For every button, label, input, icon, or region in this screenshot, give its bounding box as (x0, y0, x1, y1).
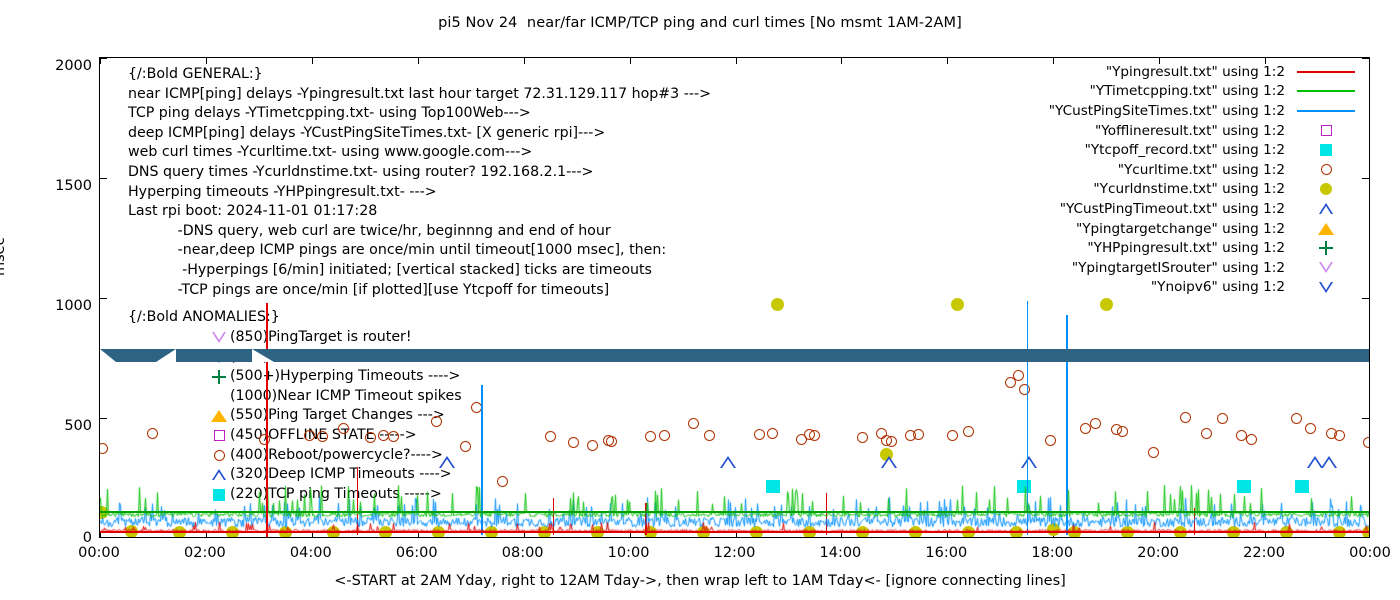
circle-open-brown-icon (214, 450, 225, 461)
legend-key (1293, 164, 1359, 175)
curl-time-point (1180, 412, 1191, 423)
x-tick-label: 18:00 (1007, 545, 1097, 561)
anomaly-marker (208, 469, 230, 480)
legend-key (1293, 183, 1359, 195)
x-tick-label: 20:00 (1113, 545, 1203, 561)
x-tick-label: 22:00 (1219, 545, 1309, 561)
curl-time-point (259, 434, 270, 445)
dns-time-point (951, 298, 964, 311)
curl-time-point (767, 428, 778, 439)
curl-time-point (1201, 428, 1212, 439)
square-open-magenta-icon (214, 430, 225, 441)
curl-time-point (545, 431, 556, 442)
banner-notch-right (252, 349, 274, 362)
legend-label: "YpingtargetISrouter" using 1:2 (1072, 260, 1285, 276)
x-tick-top (206, 58, 207, 64)
legend-row[interactable]: "Ytcpoff_record.txt" using 1:2 (1019, 140, 1359, 160)
curl-time-point (460, 441, 471, 452)
tcp-baseline-line (100, 511, 1370, 513)
y-tick-label-2000: 2000 (12, 58, 92, 74)
curl-time-point (1045, 435, 1056, 446)
x-tick-top (841, 58, 842, 64)
dns-time-point (1100, 298, 1113, 311)
curl-time-point (431, 416, 442, 427)
curl-time-point (1013, 370, 1024, 381)
line-key-icon (1297, 110, 1355, 112)
anomaly-item: (850)PingTarget is router! (208, 328, 412, 348)
anomaly-label: (1000)Near ICMP Timeout spikes (230, 387, 462, 407)
curl-time-point (1080, 423, 1091, 434)
plot-area[interactable]: {/:Bold GENERAL:} near ICMP[ping] delays… (99, 57, 1370, 538)
x-tick-label: 00:00 (1325, 545, 1400, 561)
curl-time-point (304, 430, 315, 441)
x-tick-top (630, 58, 631, 64)
legend-label: "Ycurltime.txt" using 1:2 (1118, 162, 1285, 178)
curl-time-point (1246, 434, 1257, 445)
x-tick-label: 08:00 (478, 545, 568, 561)
chart-root: pi5 Nov 24 near/far ICMP/TCP ping and cu… (0, 0, 1400, 600)
legend-row[interactable]: "Ynoipv6" using 1:2 (1019, 278, 1359, 298)
legend-key (1293, 90, 1359, 92)
x-tick-top (736, 58, 737, 64)
banner-notch-mid (156, 349, 176, 362)
curl-time-point (147, 428, 158, 439)
triangle-down-violet-icon (212, 332, 226, 343)
x-tick-top (312, 58, 313, 64)
legend-row[interactable]: "YTimetcpping.txt" using 1:2 (1019, 82, 1359, 102)
curl-time-point (857, 432, 868, 443)
x-tick-label: 06:00 (372, 545, 462, 561)
x-tick-label: 00:00 (54, 545, 144, 561)
curl-time-point (338, 423, 349, 434)
anomaly-marker (208, 450, 230, 461)
curl-time-point (1334, 430, 1345, 441)
curl-time-point (1291, 413, 1302, 424)
curl-time-point (99, 443, 108, 454)
line-key-icon (1297, 71, 1355, 73)
curl-time-point (1090, 418, 1101, 429)
x-tick-top (947, 58, 948, 64)
anomaly-item: (500+)Hyperping Timeouts ----> (208, 367, 460, 387)
legend-label: "YHPpingresult.txt" using 1:2 (1087, 240, 1285, 256)
deep-icmp-timeout-point (720, 456, 736, 468)
x-tick-label: 02:00 (160, 545, 250, 561)
triangle-up-blue-icon (212, 469, 226, 480)
legend-label: "Ypingtargetchange" using 1:2 (1076, 221, 1285, 237)
deep-icmp-timeout-point (1321, 456, 1337, 468)
x-tick-top (418, 58, 419, 64)
legend-row[interactable]: "Ycurltime.txt" using 1:2 (1019, 160, 1359, 180)
curl-time-point (568, 437, 579, 448)
page-title: pi5 Nov 24 near/far ICMP/TCP ping and cu… (0, 15, 1400, 31)
curl-time-point (606, 436, 617, 447)
anomaly-label: (400)Reboot/powercycle?----> (230, 446, 443, 466)
deep-icmp-timeout-point (1021, 456, 1037, 468)
x-tick-label: 16:00 (901, 545, 991, 561)
legend-key (1293, 241, 1359, 255)
deep-icmp-timeout-point (881, 456, 897, 468)
curl-time-point (645, 431, 656, 442)
x-axis-caption: <-START at 2AM Yday, right to 12AM Tday-… (0, 573, 1400, 589)
y-tick-label-1500: 1500 (12, 178, 92, 194)
anomalies-heading: {/:Bold ANOMALIES:} (128, 308, 280, 328)
anomaly-item: (1000)Near ICMP Timeout spikes (208, 387, 462, 407)
legend-row[interactable]: "Ypingresult.txt" using 1:2 (1019, 62, 1359, 82)
x-tick-top (524, 58, 525, 64)
curl-time-point (378, 430, 389, 441)
legend-key (1293, 262, 1359, 273)
legend-key (1293, 144, 1359, 156)
x-tick-label: 10:00 (584, 545, 674, 561)
anomaly-item: (550)Ping Target Changes ---> (208, 406, 445, 426)
legend-key (1293, 203, 1359, 214)
banner-notch-left (100, 349, 116, 362)
curl-time-point (659, 430, 670, 441)
curl-time-point (471, 402, 482, 413)
legend-key (1293, 110, 1359, 112)
curl-time-point (688, 418, 699, 429)
x-tick-label: 04:00 (266, 545, 356, 561)
anomaly-label: (550)Ping Target Changes ---> (230, 406, 445, 426)
legend-row[interactable]: "YpingtargetISrouter" using 1:2 (1019, 258, 1359, 278)
general-annotation-block: {/:Bold GENERAL:} near ICMP[ping] delays… (128, 65, 711, 300)
legend-row[interactable]: "Yofflineresult.txt" using 1:2 (1019, 121, 1359, 141)
deep-icmp-timeout-point (439, 456, 455, 468)
x-tick-top (100, 58, 101, 64)
anomaly-item: (400)Reboot/powercycle?----> (208, 446, 443, 466)
square-open-icon (1321, 125, 1332, 136)
anomaly-marker (208, 332, 230, 343)
curl-time-point (1148, 447, 1159, 458)
dns-time-point (771, 298, 784, 311)
curl-time-point (704, 430, 715, 441)
curl-time-point (886, 436, 897, 447)
circle-open-icon (1321, 164, 1332, 175)
y-axis-title: msec (0, 237, 8, 276)
legend-row[interactable]: "YHPpingresult.txt" using 1:2 (1019, 238, 1359, 258)
legend-label: "Ytcpoff_record.txt" using 1:2 (1085, 142, 1285, 158)
curl-time-point (963, 426, 974, 437)
legend-label: "Ypingresult.txt" using 1:2 (1106, 64, 1285, 80)
legend-label: "Yofflineresult.txt" using 1:2 (1095, 123, 1285, 139)
anomaly-marker (208, 370, 230, 384)
triangle-down-violet-icon (1319, 262, 1333, 273)
anomaly-label: (500+)Hyperping Timeouts ----> (230, 367, 460, 387)
triangle-up-orange-icon (211, 410, 227, 422)
icmp-baseline-line (100, 531, 1370, 533)
triangle-down-blue-icon (1319, 282, 1333, 293)
legend: "Ypingresult.txt" using 1:2"YTimetcpping… (1019, 62, 1359, 297)
legend-row[interactable]: "Ycurldnstime.txt" using 1:2 (1019, 180, 1359, 200)
noise-trace-canvas (100, 481, 1370, 537)
curl-time-point (1217, 413, 1228, 424)
curl-time-point (587, 440, 598, 451)
curl-time-point (947, 430, 958, 441)
curl-time-point (1236, 430, 1247, 441)
square-filled-icon (1320, 144, 1332, 156)
anomaly-label: (850)PingTarget is router! (230, 328, 412, 348)
curl-time-point (809, 430, 820, 441)
legend-label: "Ycurldnstime.txt" using 1:2 (1093, 181, 1285, 197)
plus-icon (1319, 241, 1333, 255)
curl-time-point (1305, 423, 1316, 434)
legend-row[interactable]: "Ypingtargetchange" using 1:2 (1019, 219, 1359, 239)
legend-label: "YCustPingSiteTimes.txt" using 1:2 (1049, 103, 1285, 119)
dot-filled-icon (1320, 183, 1332, 195)
anomaly-marker (208, 430, 230, 441)
anomaly-marker (208, 410, 230, 422)
line-key-icon (1297, 90, 1355, 92)
y-tick-label-0: 0 (12, 530, 92, 546)
legend-key (1293, 282, 1359, 293)
red-event-line (266, 303, 268, 538)
curl-time-point (1117, 426, 1128, 437)
triangle-up-filled-icon (1318, 223, 1334, 235)
legend-label: "YTimetcpping.txt" using 1:2 (1090, 83, 1285, 99)
legend-label: "YCustPingTimeout.txt" using 1:2 (1060, 201, 1285, 217)
curl-time-point (913, 429, 924, 440)
y-tick-label-1000: 1000 (12, 298, 92, 314)
plus-green-icon (212, 370, 226, 384)
x-tick-label: 14:00 (795, 545, 885, 561)
legend-key (1293, 125, 1359, 136)
curl-time-point (1363, 437, 1370, 448)
legend-key (1293, 71, 1359, 73)
legend-row[interactable]: "YCustPingSiteTimes.txt" using 1:2 (1019, 101, 1359, 121)
legend-label: "Ynoipv6" using 1:2 (1151, 279, 1285, 295)
x-tick-label: 12:00 (690, 545, 780, 561)
legend-row[interactable]: "YCustPingTimeout.txt" using 1:2 (1019, 199, 1359, 219)
curl-time-point (754, 429, 765, 440)
y-tick-label-500: 500 (12, 418, 92, 434)
triangle-up-open-icon (1319, 203, 1333, 214)
legend-key (1293, 223, 1359, 235)
overlay-banner (100, 349, 1370, 362)
